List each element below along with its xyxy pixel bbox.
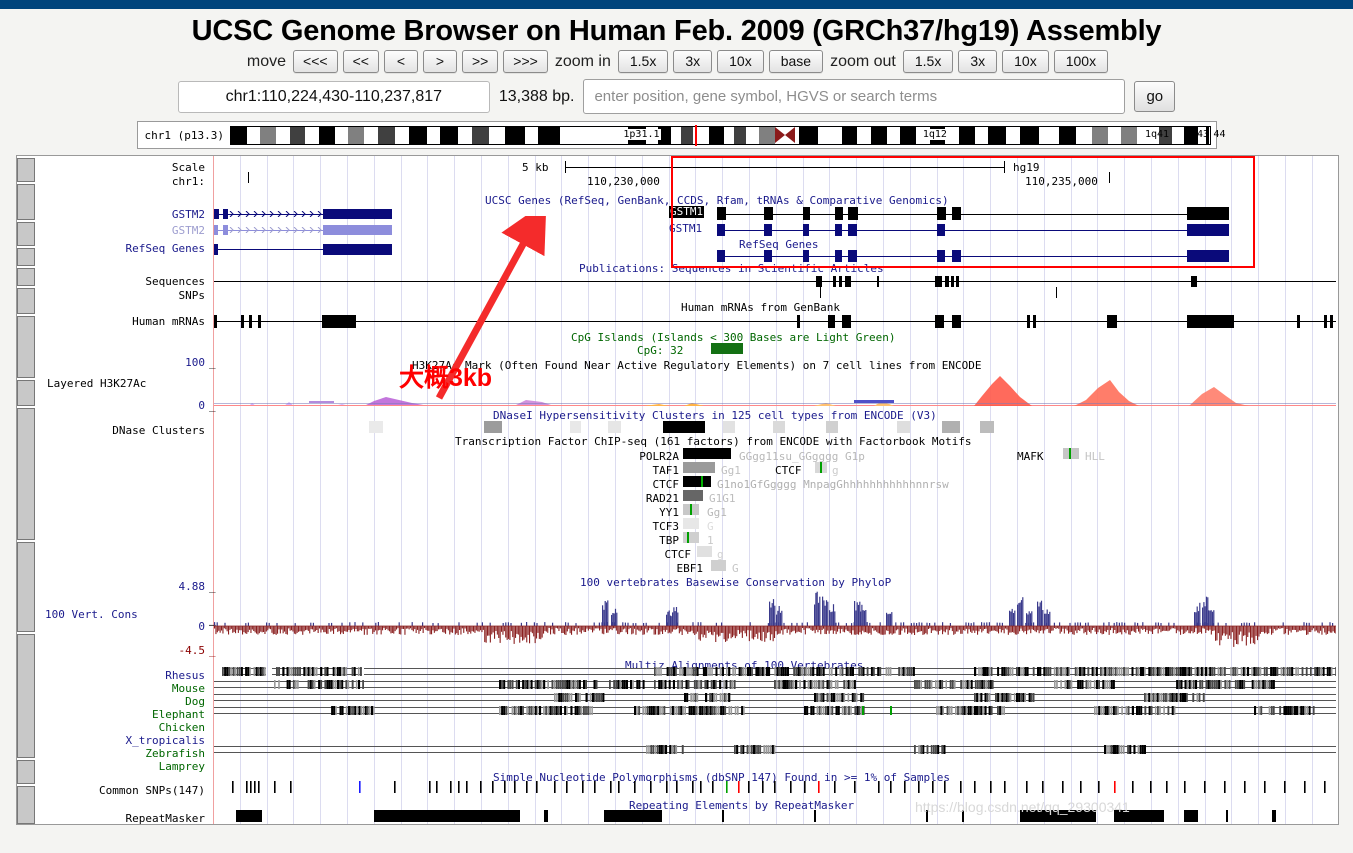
tfbs-peak[interactable] [683,518,699,529]
publication-feature[interactable] [935,276,942,287]
move-left-button[interactable]: << [343,50,379,73]
coord-tick [248,172,249,183]
zoom-out-1_5x-button[interactable]: 1.5x [903,50,953,73]
ideogram-band [305,127,319,144]
gene-label-gstm2-2[interactable]: GSTM2 [125,224,205,237]
tfbs-row-label-tbp[interactable]: TBP [605,534,679,547]
track-handle[interactable] [17,184,35,220]
gene-intron-line [717,230,1229,231]
ideogram-band [409,127,427,144]
sequences-label[interactable]: Sequences [105,275,205,288]
ideogram-band [319,127,335,144]
track-handle[interactable] [17,288,35,314]
watermark-text: https://blog.csdn.net/qq_29300341 [915,799,1130,815]
species-label-zebrafish[interactable]: Zebrafish [125,747,205,760]
move-far-right-button[interactable]: >>> [503,50,548,73]
conservation-mid-label: 0 [117,620,205,633]
refseq-exon[interactable] [214,244,218,255]
tfbs-title: Transcription Factor ChIP-seq (161 facto… [455,435,972,448]
scale-label: Scale [125,161,205,174]
gene-strand-arrows [228,211,324,217]
ideogram-band [709,127,725,144]
gene-exon[interactable] [835,207,843,220]
ideogram-band [260,127,276,144]
publication-feature[interactable] [956,276,959,287]
conservation-min-label: -4.5 [117,644,205,657]
gene-exon[interactable] [937,224,945,236]
ideogram-band [489,127,505,144]
move-right-button[interactable]: >> [462,50,498,73]
ideogram-band [1039,127,1059,144]
gene-label-gstm1-selected[interactable]: GSTM1 [669,206,704,218]
tfbs-motif-tcf3: G [707,520,714,533]
band-label-44: 44 [1212,129,1226,140]
mrna-baseline [214,321,1336,322]
publication-feature[interactable] [816,276,822,287]
tfbs-motif-mark [690,504,692,515]
tfbs-motif-mark [820,462,822,473]
scale-bar-tick-right [1004,161,1005,173]
zoom-out-label: zoom out [828,53,898,71]
zoom-out-10x-button[interactable]: 10x [1002,50,1049,73]
assembly-text: hg19 [1013,161,1040,174]
coord-tick [1109,172,1110,183]
gene-exon[interactable] [717,207,726,220]
species-label-mouse[interactable]: Mouse [125,682,205,695]
zoom-in-1_5x-button[interactable]: 1.5x [618,50,668,73]
publication-feature[interactable] [877,276,879,287]
cpg-island-block[interactable] [711,343,743,354]
gene-exon[interactable] [848,207,858,220]
gene-exon[interactable] [835,224,842,236]
tfbs-motif-taf1: Gg1 [721,464,741,477]
species-label-dog[interactable]: Dog [125,695,205,708]
tfbs-motif-ctcf-1: g [832,464,839,477]
ideogram-band [818,127,841,144]
ideogram-band [681,127,693,144]
gene-intron-line [717,214,1229,215]
tfbs-row-label-ebf1[interactable]: EBF1 [629,562,703,575]
annotation-label: 大概3kb [399,358,492,394]
track-handle[interactable] [17,542,35,632]
mrna-title: Human mRNAs from GenBank [681,301,840,314]
gene-exon[interactable] [848,224,857,236]
ideogram-band [1172,127,1184,144]
tfbs-row-label-yy1[interactable]: YY1 [605,506,679,519]
tfbs-row-label-tcf3[interactable]: TCF3 [605,520,679,533]
move-left-small-button[interactable]: < [384,50,418,73]
tfbs-peak[interactable] [683,532,699,543]
gene-exon[interactable] [717,224,725,236]
tfbs-motif-ctcf-2: G1no1GfGgggg MnpagGhhhhhhhhhhhnnrsw [717,478,949,491]
track-handle[interactable] [17,316,35,378]
refseq-genes-label[interactable]: RefSeq Genes [87,242,205,255]
ideogram-band [959,127,975,144]
scale-bar [565,167,1005,168]
repeatmasker-label[interactable]: RepeatMasker [53,812,205,825]
centromere-icon [775,127,795,144]
publication-feature[interactable] [845,276,851,287]
search-input[interactable]: enter position, gene symbol, HGVS or sea… [583,79,1125,114]
ideogram-band [988,127,1006,144]
ideogram-band [842,127,858,144]
mrna-exon[interactable] [842,315,851,328]
gene-cds-block[interactable] [1187,207,1229,220]
mrna-exon[interactable] [1027,315,1030,328]
snp-feature[interactable] [820,287,821,298]
bp-count-label: 13,388 bp. [499,88,575,106]
gene-exon[interactable] [803,207,810,220]
browser-header: UCSC Genome Browser on Human Feb. 2009 (… [0,9,1353,121]
ideogram-bands[interactable]: 1p31.1 1q12 1q41 q43 44 [230,126,1211,145]
cpg-item-label[interactable]: CpG: 32 [637,344,683,357]
gene-exon[interactable] [952,207,961,220]
repeatmasker-plot[interactable] [214,808,1336,824]
dnase-cluster[interactable] [663,421,705,433]
refseq-intron-line [717,256,1229,257]
band-label-q43: q43 [1190,129,1210,140]
gene-cds-block[interactable] [1187,224,1229,236]
ideogram-band [290,127,306,144]
tfbs-peak[interactable] [683,462,715,473]
tfbs-peak[interactable] [711,560,726,571]
ideogram-band [276,127,290,144]
mrna-exon[interactable] [1297,315,1300,328]
move-far-left-button[interactable]: <<< [293,50,338,73]
tfbs-peak[interactable] [1063,448,1079,459]
ideogram-band [440,127,458,144]
ideogram-band [472,127,490,144]
chromosome-ideogram[interactable]: chr1 (p13.3) 1p31.1 1q12 1q41 q43 44 [137,121,1217,149]
h3k27ac-label[interactable]: Layered H3K27Ac [47,377,146,390]
gene-exon[interactable] [937,207,946,220]
publication-feature[interactable] [951,276,954,287]
refseq-cds-block[interactable] [1187,250,1229,262]
ideogram-band [231,127,247,144]
h3k27ac-min-label: 0 [127,399,205,412]
ucsc-genes-title: UCSC Genes (RefSeq, GenBank, CCDS, Rfam,… [485,194,949,207]
track-handle[interactable] [17,786,35,824]
band-label-1q41: 1q41 [1144,129,1170,140]
zoom-in-label: zoom in [553,53,613,71]
mrna-exon[interactable] [797,315,800,328]
snp-feature[interactable] [1056,287,1057,298]
snps-label[interactable]: SNPs [105,289,205,302]
ideogram-label: chr1 (p13.3) [138,129,230,142]
zoom-in-10x-button[interactable]: 10x [717,50,764,73]
tfbs-motif-mark [687,532,689,543]
tfbs-peak[interactable] [683,490,703,501]
tfbs-row-label-mafk[interactable]: MAFK [1017,450,1044,463]
refseq-exon[interactable] [937,250,945,262]
dnase-cluster[interactable] [369,421,383,433]
tfbs-row-label-ctcf-1[interactable]: CTCF [775,464,802,477]
gene-exon[interactable] [214,209,219,219]
ideogram-band [734,127,746,144]
tfbs-motif-yy1: Gg1 [707,506,727,519]
band-label-1q12: 1q12 [922,129,948,140]
refseq-exon[interactable] [803,250,809,262]
ideogram-band [427,127,441,144]
h3k27ac-signal-plot[interactable] [214,370,1336,407]
publications-title: Publications: Sequences in Scientific Ar… [579,262,884,275]
track-handle[interactable] [17,380,35,406]
species-label-elephant[interactable]: Elephant [125,708,205,721]
gene-strand-arrows-pale [228,227,324,233]
track-handle[interactable] [17,408,35,540]
ideogram-band [857,127,871,144]
tfbs-peak[interactable] [697,546,712,557]
dnase-cluster[interactable] [826,421,838,433]
scale-bar-tick-left [565,161,566,173]
ideogram-band [538,127,560,144]
ideogram-band [887,127,901,144]
mrna-exon[interactable] [249,315,252,328]
ideogram-position-marker [695,125,697,146]
ideogram-band [799,127,819,144]
page-title: UCSC Genome Browser on Human Feb. 2009 (… [0,9,1353,50]
dnase-title: DNaseI Hypersensitivity Clusters in 125 … [493,409,937,422]
refseq-cds-block[interactable] [323,244,392,255]
gene-exon[interactable] [803,224,809,236]
tfbs-motif-mark [701,476,703,487]
navigation-controls: move <<< << < > >> >>> zoom in 1.5x 3x 1… [0,50,1353,79]
ideogram-container: chr1 (p13.3) 1p31.1 1q12 1q41 q43 44 [0,121,1353,155]
publications-baseline [214,281,1336,282]
tfbs-motif-mafk: HLL [1085,450,1105,463]
refseq-exon[interactable] [848,250,857,262]
ideogram-band [1020,127,1040,144]
ideogram-band [1108,127,1122,144]
gene-cds-block-pale[interactable] [323,225,392,235]
dnase-cluster[interactable] [897,421,910,433]
ideogram-band [1121,127,1137,144]
h3k27ac-max-label: 100 [127,356,205,369]
zoom-out-100x-button[interactable]: 100x [1054,50,1108,73]
publication-feature[interactable] [839,276,842,287]
conservation-plot[interactable] [214,584,1336,654]
tfbs-peak[interactable] [683,476,711,487]
dnase-cluster[interactable] [942,421,960,433]
dnase-cluster[interactable] [723,421,735,433]
move-label: move [245,53,288,71]
track-handle[interactable] [17,760,35,784]
chrom-label: chr1: [125,175,205,188]
zoom-in-3x-button[interactable]: 3x [673,50,712,73]
gene-cds-block[interactable] [323,209,392,219]
ideogram-band [458,127,472,144]
mrna-exon[interactable] [1187,315,1234,328]
ideogram-band [975,127,989,144]
tfbs-row-label-taf1[interactable]: TAF1 [605,464,679,477]
ideogram-band [247,127,261,144]
common-snps-label[interactable]: Common SNPs(147) [53,784,205,797]
dnase-label[interactable]: DNase Clusters [83,424,205,437]
ideogram-band [505,127,525,144]
dnase-cluster[interactable] [484,421,502,433]
track-handle[interactable] [17,268,35,286]
go-button[interactable]: go [1134,81,1175,112]
ideogram-band [759,127,775,144]
ideogram-band [560,127,603,144]
gene-exon[interactable] [764,207,773,220]
tfbs-row-label-ctcf-3[interactable]: CTCF [617,548,691,561]
zoom-out-3x-button[interactable]: 3x [958,50,997,73]
species-label-xtropicalis[interactable]: X_tropicalis [117,734,205,747]
ideogram-band [900,127,916,144]
refseq-exon[interactable] [717,250,725,262]
tfbs-row-label-rad21[interactable]: RAD21 [605,492,679,505]
publication-feature[interactable] [945,276,949,287]
ideogram-band [724,127,734,144]
zoom-in-base-button[interactable]: base [769,50,823,73]
tfbs-motif-polr2a: GGgg11su_GGgggg G1p [739,450,865,463]
coord-left-label: 110,230,000 [587,175,660,188]
coord-right-label: 110,235,000 [1025,175,1098,188]
genome-browser-image[interactable]: Scale chr1: 5 kb hg19 110,230,000 110,23… [16,155,1339,825]
mrna-label[interactable]: Human mRNAs [95,315,205,328]
species-label-rhesus[interactable]: Rhesus [125,669,205,682]
mrna-exon[interactable] [1107,315,1117,328]
tfbs-row-label-polr2a[interactable]: POLR2A [605,450,679,463]
snp-marks-plot[interactable] [214,780,1336,796]
species-label-chicken[interactable]: Chicken [125,721,205,734]
multiz-alignment-plot[interactable] [214,664,1336,768]
mrna-exon[interactable] [935,315,944,328]
dnase-cluster[interactable] [980,421,994,433]
scale-bar-text: 5 kb [522,161,549,174]
mrna-exon[interactable] [952,315,961,328]
dnase-cluster[interactable] [773,421,785,433]
mrna-exon[interactable] [322,315,356,328]
ideogram-band [1076,127,1092,144]
mrna-exon[interactable] [214,315,217,328]
ideogram-band [746,127,760,144]
mrna-exon[interactable] [258,315,261,328]
publication-feature[interactable] [833,276,836,287]
ideogram-band [335,127,349,144]
ideogram-band [671,127,681,144]
track-handle[interactable] [17,248,35,266]
ideogram-band [364,127,378,144]
dnase-cluster[interactable] [608,421,621,433]
mrna-exon[interactable] [1033,315,1036,328]
species-label-lamprey[interactable]: Lamprey [125,760,205,773]
position-field[interactable]: chr1:110,224,430-110,237,817 [178,81,490,113]
ideogram-band [871,127,887,144]
mrna-exon[interactable] [1324,315,1327,328]
band-label-1p31: 1p31.1 [622,129,660,140]
track-handle[interactable] [17,634,35,758]
move-right-small-button[interactable]: > [423,50,457,73]
ideogram-band [1006,127,1020,144]
mrna-exon[interactable] [241,315,244,328]
conservation-max-label: 4.88 [117,580,205,593]
mrna-exon[interactable] [828,315,835,328]
track-handle[interactable] [17,158,35,182]
ideogram-band [525,127,539,144]
tfbs-row-label-ctcf-2[interactable]: CTCF [605,478,679,491]
ideogram-band [378,127,396,144]
ideogram-band [1059,127,1077,144]
h3k27ac-max-tick: _ [209,356,216,369]
coord-tick [671,172,672,183]
ideogram-band [1092,127,1108,144]
mrna-exon[interactable] [1330,315,1333,328]
dnase-cluster[interactable] [570,421,581,433]
refseq-exon[interactable] [764,250,772,262]
refseq-exon[interactable] [952,250,961,262]
gene-label-gstm1[interactable]: GSTM1 [669,222,702,235]
ideogram-band [348,127,364,144]
tfbs-motif-ebf1: G [732,562,739,575]
tfbs-motif-mark [1069,448,1071,459]
gene-label-gstm2-1[interactable]: GSTM2 [125,208,205,221]
refseq-exon[interactable] [835,250,842,262]
position-controls: chr1:110,224,430-110,237,817 13,388 bp. … [0,79,1353,121]
top-accent-bar [0,0,1353,9]
gene-exon-pale[interactable] [214,225,218,235]
tfbs-peak[interactable] [683,448,731,459]
ideogram-band [395,127,409,144]
gene-exon[interactable] [764,224,772,236]
publication-feature[interactable] [1191,276,1197,287]
track-handle[interactable] [17,222,35,246]
tfbs-motif-rad21: G1G1 [709,492,736,505]
